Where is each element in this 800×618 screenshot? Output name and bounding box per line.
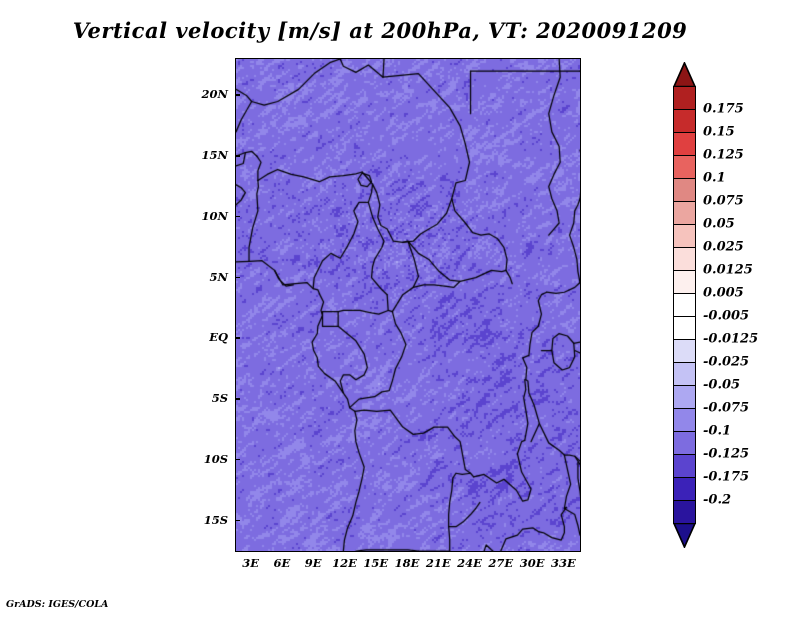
- y-tick-label-5n: 5N: [209, 270, 228, 284]
- colorbar-tick-label: 0.175: [703, 102, 744, 117]
- y-tick-mark: [235, 520, 240, 522]
- colorbar-segment: [673, 247, 696, 271]
- colorbar-segment: [673, 109, 696, 133]
- colorbar-tick-label: -0.05: [703, 378, 740, 393]
- colorbar-segment: [673, 201, 696, 225]
- colorbar-segment: [673, 362, 696, 386]
- country-borders-overlay: [236, 59, 580, 551]
- grads-credit: GrADS: IGES/COLA: [6, 599, 108, 610]
- colorbar-under-arrow-outline: [673, 523, 696, 548]
- x-tick-label-30e: 30E: [520, 556, 545, 570]
- y-tick-mark: [235, 216, 240, 218]
- x-axis-labels: 3E6E9E12E15E18E21E24E27E30E33E: [235, 556, 579, 576]
- colorbar-tick-label: -0.125: [703, 447, 749, 462]
- colorbar-segment: [673, 224, 696, 248]
- colorbar: 0.1750.150.1250.10.0750.050.0250.01250.0…: [673, 62, 696, 548]
- y-tick-label-15n: 15N: [201, 148, 228, 162]
- colorbar-segment: [673, 132, 696, 156]
- x-tick-label-9e: 9E: [305, 556, 322, 570]
- colorbar-segment: [673, 500, 696, 524]
- colorbar-tick-label: -0.075: [703, 401, 749, 416]
- colorbar-segments: [673, 86, 696, 523]
- x-tick-label-3e: 3E: [242, 556, 259, 570]
- y-tick-label-10s: 10S: [204, 452, 228, 466]
- y-tick-mark: [235, 277, 240, 279]
- y-tick-label-10n: 10N: [201, 209, 228, 223]
- y-tick-mark: [235, 398, 240, 400]
- x-tick-label-33e: 33E: [551, 556, 576, 570]
- colorbar-tick-label: -0.1: [703, 424, 731, 439]
- x-tick-label-21e: 21E: [426, 556, 451, 570]
- colorbar-segment: [673, 155, 696, 179]
- x-tick-label-15e: 15E: [363, 556, 388, 570]
- map-plot-area: [235, 58, 581, 552]
- y-tick-label-5s: 5S: [212, 391, 228, 405]
- x-tick-label-18e: 18E: [395, 556, 420, 570]
- colorbar-segment: [673, 431, 696, 455]
- page-title: Vertical velocity [m/s] at 200hPa, VT: 2…: [0, 18, 760, 43]
- colorbar-tick-label: -0.175: [703, 470, 749, 485]
- colorbar-tick-label: 0.075: [703, 194, 744, 209]
- y-tick-label-15s: 15S: [204, 513, 228, 527]
- y-tick-mark: [235, 459, 240, 461]
- y-tick-mark: [235, 94, 240, 96]
- colorbar-tick-label: 0.1: [703, 171, 726, 186]
- x-tick-label-27e: 27E: [488, 556, 513, 570]
- colorbar-over-arrow-outline: [673, 62, 696, 87]
- colorbar-segment: [673, 178, 696, 202]
- colorbar-tick-label: -0.2: [703, 493, 731, 508]
- colorbar-segment: [673, 293, 696, 317]
- colorbar-tick-label: 0.0125: [703, 263, 753, 278]
- colorbar-tick-label: 0.15: [703, 125, 735, 140]
- colorbar-segment: [673, 477, 696, 501]
- y-tick-label-20n: 20N: [201, 87, 228, 101]
- x-tick-label-12e: 12E: [332, 556, 357, 570]
- x-tick-label-6e: 6E: [274, 556, 291, 570]
- y-tick-mark: [235, 337, 240, 339]
- colorbar-tick-label: 0.125: [703, 148, 744, 163]
- colorbar-tick-label: -0.0125: [703, 332, 758, 347]
- y-axis-labels: 20N15N10N5NEQ5S10S15S: [160, 58, 228, 550]
- colorbar-tick-label: 0.025: [703, 240, 744, 255]
- y-tick-label-eq: EQ: [209, 330, 228, 344]
- colorbar-segment: [673, 316, 696, 340]
- colorbar-segment: [673, 270, 696, 294]
- colorbar-segment: [673, 454, 696, 478]
- x-tick-label-24e: 24E: [457, 556, 482, 570]
- colorbar-segment: [673, 86, 696, 110]
- y-tick-mark: [235, 155, 240, 157]
- colorbar-segment: [673, 408, 696, 432]
- colorbar-tick-label: -0.025: [703, 355, 749, 370]
- colorbar-tick-label: -0.005: [703, 309, 749, 324]
- colorbar-tick-label: 0.05: [703, 217, 735, 232]
- colorbar-segment: [673, 339, 696, 363]
- colorbar-tick-label: 0.005: [703, 286, 744, 301]
- colorbar-segment: [673, 385, 696, 409]
